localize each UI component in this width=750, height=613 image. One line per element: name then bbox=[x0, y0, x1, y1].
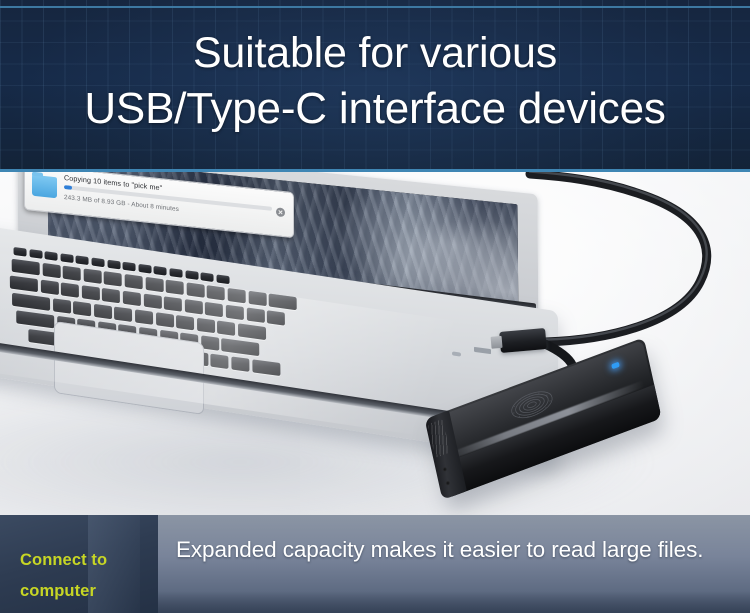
product-photo-scene: Copying 10 items to "pick me" 243.3 MB o… bbox=[0, 172, 750, 515]
header-title-line-1: Suitable for various bbox=[0, 26, 750, 81]
ssd-screw bbox=[442, 467, 447, 472]
connect-caption-line-1: Connect to bbox=[20, 545, 152, 576]
header-top-rule bbox=[0, 6, 750, 8]
tagline-text: Expanded capacity makes it easier to rea… bbox=[176, 535, 742, 565]
header-title: Suitable for various USB/Type-C interfac… bbox=[0, 26, 750, 136]
ssd-screw bbox=[446, 480, 451, 485]
connect-caption-line-2: computer bbox=[20, 576, 152, 607]
product-marketing-image: Suitable for various USB/Type-C interfac… bbox=[0, 0, 750, 613]
header-title-line-2: USB/Type-C interface devices bbox=[0, 81, 750, 136]
usb-a-connector bbox=[499, 328, 547, 353]
status-led-indicator bbox=[611, 362, 620, 370]
header-banner: Suitable for various USB/Type-C interfac… bbox=[0, 0, 750, 172]
connect-caption: Connect to computer bbox=[20, 545, 152, 607]
ssd-cap-ridges bbox=[428, 419, 450, 458]
